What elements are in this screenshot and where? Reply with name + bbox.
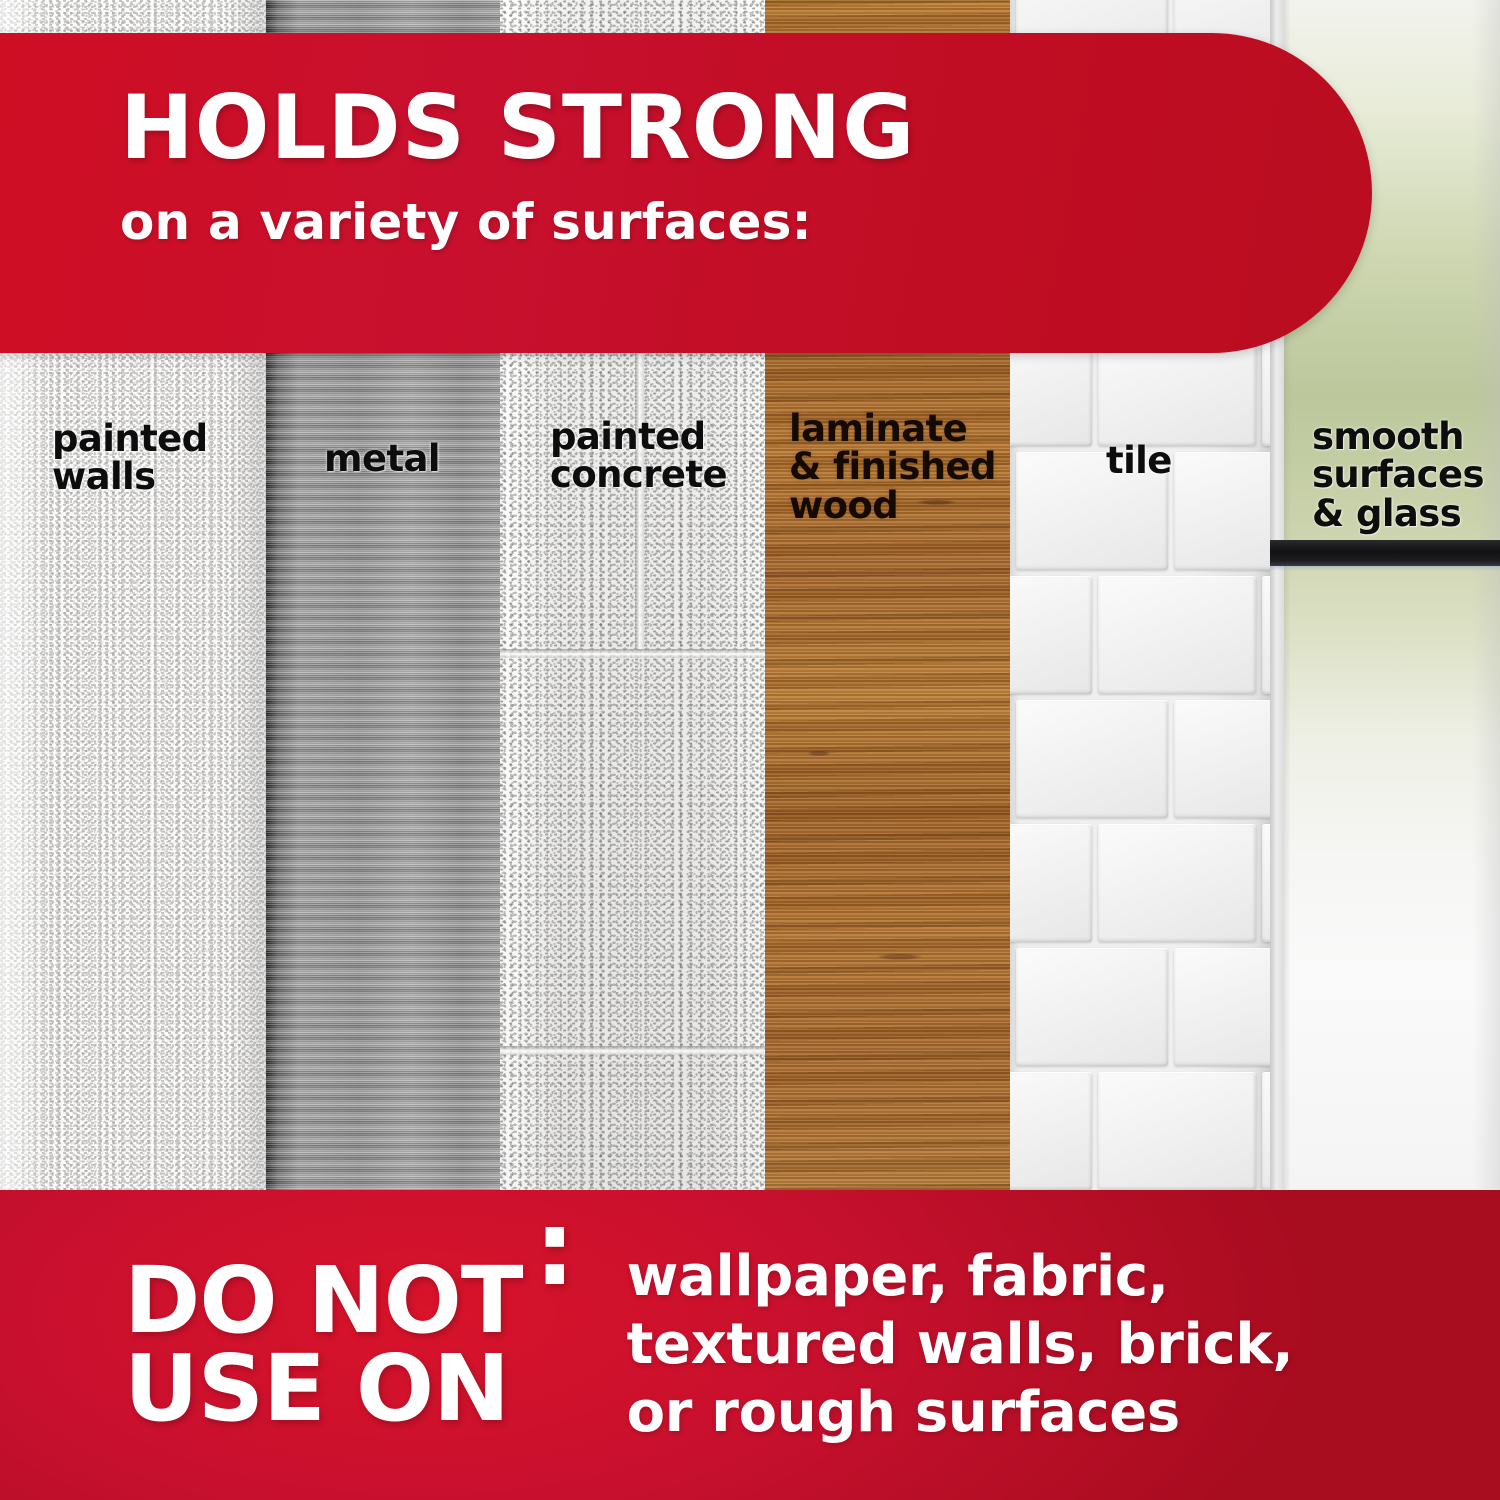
label-painted-walls: painted walls	[52, 420, 208, 497]
label-smooth-glass: smooth surfaces & glass	[1312, 418, 1484, 533]
colon-glyph: :	[534, 1202, 575, 1296]
do-not-use-list: wallpaper, fabric, textured walls, brick…	[627, 1243, 1294, 1448]
footer-banner: DO NOT USE ON : wallpaper, fabric, textu…	[0, 1190, 1500, 1500]
header-text-block: HOLDS STRONG on a variety of surfaces:	[120, 85, 915, 247]
mortar-joint-horizontal	[500, 649, 765, 658]
label-painted-concrete: painted concrete	[550, 418, 727, 495]
mortar-joint-horizontal	[500, 1046, 765, 1055]
footer-row: DO NOT USE ON : wallpaper, fabric, textu…	[0, 1190, 1500, 1500]
label-metal: metal	[324, 440, 440, 478]
label-laminate-wood: laminate & finished wood	[789, 410, 996, 525]
do-not-use-heading: DO NOT USE ON :	[124, 1168, 523, 1500]
do-not-use-heading-text: DO NOT USE ON	[124, 1247, 523, 1442]
page-subtitle: on a variety of surfaces:	[120, 197, 915, 247]
header-banner: HOLDS STRONG on a variety of surfaces:	[0, 33, 1372, 353]
page-title: HOLDS STRONG	[120, 85, 915, 171]
glass-divider-bar	[1270, 540, 1500, 566]
label-tile: tile	[1106, 442, 1172, 480]
infographic-root: painted walls metal painted concrete lam…	[0, 0, 1500, 1500]
